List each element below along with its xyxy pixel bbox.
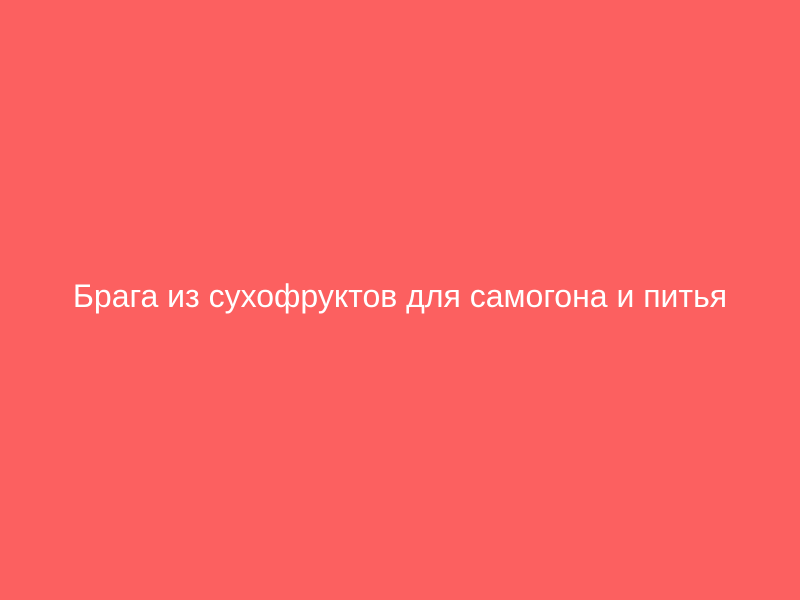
page-title: Брага из сухофруктов для самогона и пить… [24, 276, 776, 316]
title-container: Брага из сухофруктов для самогона и пить… [0, 280, 800, 320]
placeholder-card: Брага из сухофруктов для самогона и пить… [0, 0, 800, 600]
